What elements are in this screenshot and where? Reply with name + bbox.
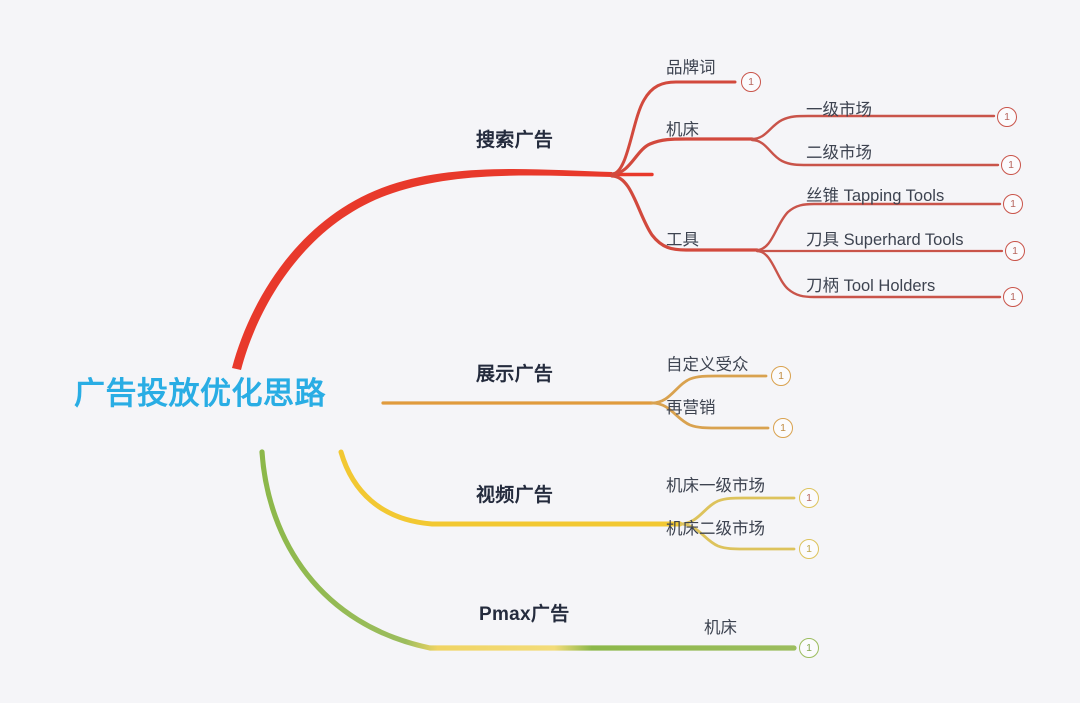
- badge-brand-keywords[interactable]: 1: [741, 72, 761, 92]
- badge-superhard-tools[interactable]: 1: [1005, 241, 1025, 261]
- connector-machine-tools-to-secondary-market: [752, 140, 998, 165]
- badge-secondary-market[interactable]: 1: [1001, 155, 1021, 175]
- node-label-remarketing[interactable]: 再营销: [666, 400, 716, 417]
- node-label-tools[interactable]: 工具: [666, 232, 699, 249]
- badge-tool-holders[interactable]: 1: [1003, 287, 1023, 307]
- node-label-video-machine-primary[interactable]: 机床一级市场: [666, 478, 765, 495]
- mindmap-canvas: 广告投放优化思路 搜索广告 品牌词 1 机床 一级市场 1 二级市场 1 工具 …: [0, 0, 1080, 703]
- node-label-pmax-machine-tools[interactable]: 机床: [704, 620, 737, 637]
- badge-pmax-machine-tools[interactable]: 1: [799, 638, 819, 658]
- badge-remarketing[interactable]: 1: [773, 418, 793, 438]
- mindmap-connectors: [0, 0, 1080, 703]
- node-label-superhard-tools[interactable]: 刀具 Superhard Tools: [806, 232, 963, 249]
- node-label-video-machine-secondary[interactable]: 机床二级市场: [666, 521, 765, 538]
- branch-label-pmax-ads[interactable]: Pmax广告: [479, 605, 570, 624]
- node-label-primary-market[interactable]: 一级市场: [806, 102, 872, 119]
- badge-tapping-tools[interactable]: 1: [1003, 194, 1023, 214]
- node-label-tapping-tools[interactable]: 丝锥 Tapping Tools: [806, 188, 944, 205]
- branch-label-display-ads[interactable]: 展示广告: [476, 365, 553, 384]
- node-label-machine-tools[interactable]: 机床: [666, 122, 699, 139]
- node-label-tool-holders[interactable]: 刀柄 Tool Holders: [806, 278, 935, 295]
- badge-video-machine-primary[interactable]: 1: [799, 488, 819, 508]
- badge-custom-audience[interactable]: 1: [771, 366, 791, 386]
- badge-primary-market[interactable]: 1: [997, 107, 1017, 127]
- branch-label-video-ads[interactable]: 视频广告: [476, 486, 553, 505]
- node-label-brand-keywords[interactable]: 品牌词: [666, 60, 716, 77]
- connector-root-to-search-ads: [232, 169, 612, 370]
- branch-label-search-ads[interactable]: 搜索广告: [476, 131, 553, 150]
- node-label-custom-audience[interactable]: 自定义受众: [666, 357, 749, 374]
- root-node-label[interactable]: 广告投放优化思路: [74, 378, 326, 409]
- connector-machine-tools-to-primary-market: [752, 116, 994, 139]
- connector-search-to-machine-tools: [612, 139, 752, 174]
- badge-video-machine-secondary[interactable]: 1: [799, 539, 819, 559]
- node-label-secondary-market[interactable]: 二级市场: [806, 145, 872, 162]
